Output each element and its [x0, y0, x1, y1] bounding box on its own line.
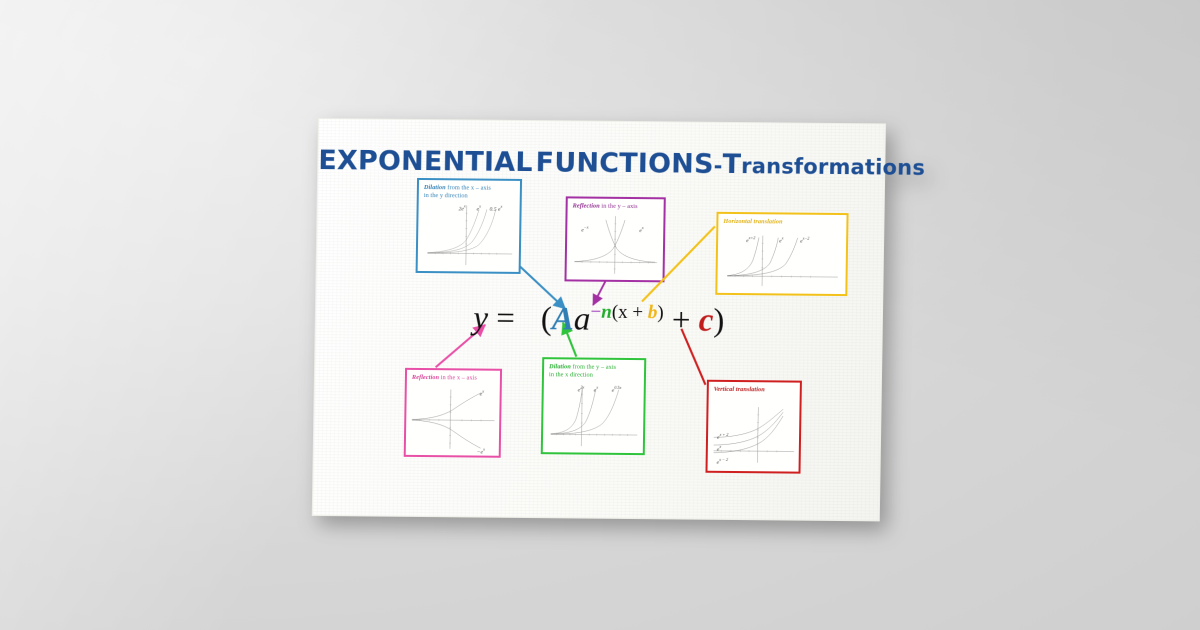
eq-sup-open: (x + [612, 302, 648, 323]
curve-label-1: ex [639, 225, 643, 234]
main-equation: y =(Aa−n(x + b) + c) [316, 299, 883, 341]
panel-vertical-translation[interactable]: Vertical translation [705, 380, 801, 474]
title-part-exponential: EXPONENTIAL [318, 145, 533, 178]
panel-horizontal-translation[interactable]: Horizontal translation [715, 212, 848, 296]
panel-dilation-from-y-axis[interactable]: Dilation from the y – axis in the x dire… [541, 357, 647, 455]
curve-label-1: ex [779, 235, 783, 244]
eq-a: a [574, 301, 591, 337]
curve-label-0: ex+2 [746, 235, 755, 244]
plot-dilation-y [543, 359, 644, 453]
eq-equals: = [496, 301, 515, 337]
curve-label-2: 0.5 ex [490, 204, 503, 213]
panel-reflection-in-x-axis[interactable]: Reflection in the x – axis [404, 368, 502, 458]
curve-label-2: e0.5x [612, 385, 622, 394]
curve-label-0: ex + 2 [717, 432, 728, 441]
eq-sup-close: ) [657, 302, 664, 323]
curve-label-0: 2ex [459, 203, 466, 212]
curve-label-1: ex [477, 204, 481, 213]
curve-label-1: ex [717, 444, 721, 453]
eq-n: n [601, 302, 612, 323]
curve-label-1: −ex [477, 447, 485, 456]
panel-reflection-in-y-axis[interactable]: Reflection in the y – axis [564, 196, 665, 282]
poster: EXPONENTIAL FUNCTIONS-Transformations Di… [312, 118, 886, 521]
title-letter-t: T [722, 149, 741, 180]
plot-horizontal-translation [717, 214, 846, 296]
curve-label-1: ex [594, 385, 598, 394]
eq-sup-minus: − [590, 302, 601, 323]
poster-surface: EXPONENTIAL FUNCTIONS-Transformations Di… [312, 118, 886, 521]
eq-plus: + [672, 302, 691, 338]
curve-label-0: ex [480, 389, 484, 398]
panel-dilation-from-x-axis[interactable]: Dilation from the x – axis in the y dire… [416, 178, 522, 274]
eq-y: y [473, 300, 488, 336]
page-title: EXPONENTIAL FUNCTIONS-Transformations [318, 145, 884, 181]
title-part-transformations: ransformations [741, 154, 925, 180]
eq-close-paren: ) [713, 303, 725, 339]
curve-label-2: ex − 2 [717, 457, 728, 466]
plot-dilation-x [418, 180, 520, 272]
eq-c: c [698, 303, 713, 339]
curve-label-0: e−x [581, 225, 588, 234]
plot-reflection-x [406, 370, 500, 456]
eq-open-paren: ( [541, 301, 553, 337]
eq-A: A [552, 301, 575, 337]
title-part-functions: FUNCTIONS [535, 147, 714, 180]
curve-label-0: e2x [578, 385, 585, 394]
plot-reflection-y [566, 198, 663, 281]
curve-label-2: ex−2 [800, 236, 809, 245]
